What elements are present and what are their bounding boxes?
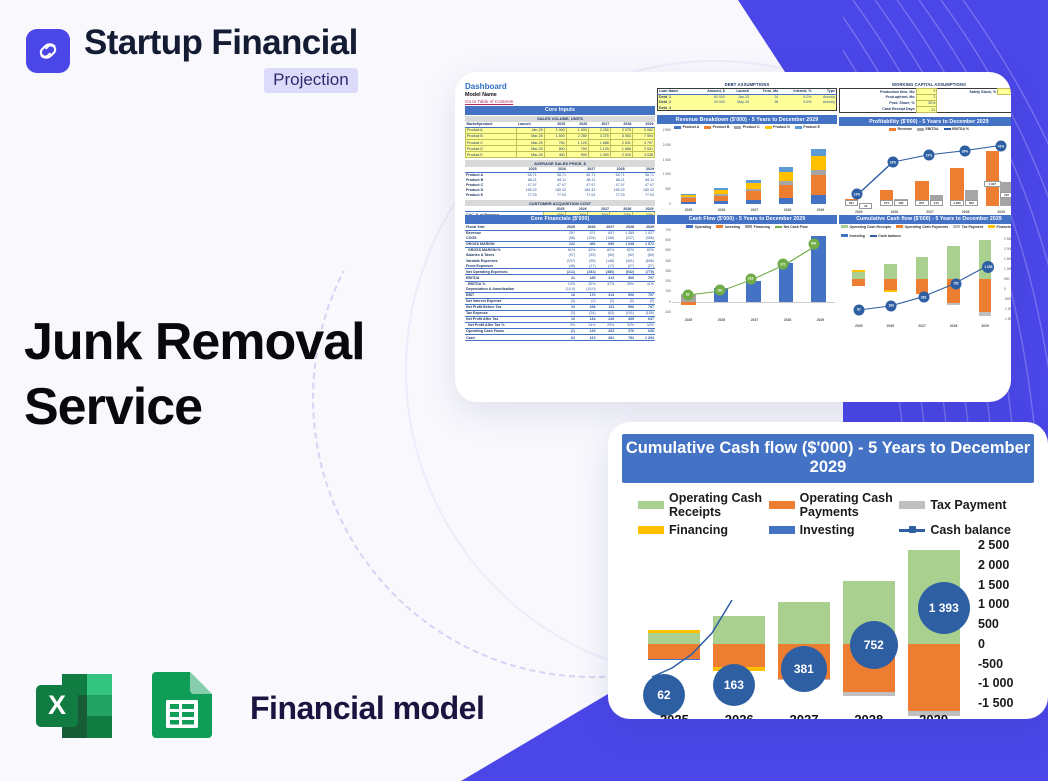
- legend-swatch-orange: [769, 501, 795, 509]
- profitability-title: Profitability ($'000) - 5 Years to Decem…: [839, 117, 1011, 126]
- profitability-x-axis: 2025 2026 2027 2028 2029: [841, 210, 1011, 214]
- dashboard-inputs-column: Dashboard Model Name Go to Table of Cont…: [465, 82, 655, 212]
- cumulative-mini-marker: 752: [951, 278, 962, 289]
- core-financials-block: Core Financials ($'000) Fiscal Year 2025…: [465, 213, 655, 341]
- debt-assumptions-header: DEBT ASSUMPTIONS: [657, 82, 837, 87]
- cash-flow-marker: 640: [808, 238, 819, 249]
- page-title: Junk Removal Service: [24, 310, 365, 440]
- cash-balance-marker-2027: 381: [781, 646, 827, 692]
- revenue-breakdown-title: Revenue Breakdown ($'000) - 5 Years to D…: [657, 115, 837, 124]
- profitability-marker: 37%: [924, 150, 935, 161]
- table-row: Cash621633817521 393: [465, 335, 655, 341]
- cumulative-mini-marker: 163: [886, 300, 897, 311]
- legend-swatch-blue: [769, 526, 795, 534]
- cumulative-cash-flow-card: Cumulative Cash flow ($'000) - 5 Years t…: [608, 422, 1048, 719]
- cumulative-mini-y-axis: -1 500 -1 000 -500 0 500 1 000 1 500 2 0…: [1003, 239, 1011, 319]
- legend-item-financing: Financing: [638, 523, 767, 537]
- dashboard-heading: Dashboard: [465, 82, 655, 91]
- table-row: Debt_3: [658, 105, 837, 111]
- cumulative-cash-flow-x-axis: 2025 2026 2027 2028 2029: [642, 712, 966, 719]
- google-sheets-icon: [144, 660, 220, 757]
- cash-flow-block: Cash Flow ($'000) - 5 Years to December …: [657, 213, 837, 341]
- dashboard-debt-column: DEBT ASSUMPTIONS Loan Name Amount, $ Lau…: [657, 82, 837, 212]
- dashboard-wc-column: WORKING CAPITAL ASSUMPTIONS Production t…: [839, 82, 1011, 212]
- profitability-marker: 10%: [852, 189, 863, 200]
- table-row: Product EMar-254009001 3502 0253 038: [466, 152, 655, 158]
- cash-flow-y-axis: -100 0 100 200 300 400 500 600 700: [657, 230, 672, 312]
- cumulative-cash-flow-y-axis: 2 500 2 000 1 500 1 000 500 0 -500 -1 00…: [972, 545, 1036, 703]
- cash-flow-x-axis: 2025 2026 2027 2028 2029: [672, 318, 837, 322]
- legend-line-marker: [899, 529, 925, 532]
- cumulative-mini-legend: Operating Cash Receipts Operating Cash P…: [839, 225, 1011, 238]
- legend-item-operating-cash-payments: Operating Cash Payments: [769, 491, 898, 519]
- e-swirl-logo-icon: [26, 29, 70, 73]
- profitability-marker: 39%: [960, 146, 971, 157]
- revenue-breakdown-legend: Product A Product B Product C Product D …: [657, 125, 837, 129]
- cash-balance-marker-2025: 62: [643, 674, 685, 716]
- legend-swatch-green: [638, 501, 664, 509]
- core-inputs-band: Core Inputs: [465, 106, 655, 115]
- average-price-table: 2025 2026 2027 2028 2029 Product A58.715…: [465, 167, 655, 198]
- revenue-breakdown-bars: [672, 130, 835, 204]
- cumulative-cash-flow-plot: 2 500 2 000 1 500 1 000 500 0 -500 -1 00…: [616, 545, 1040, 719]
- cumulative-cash-flow-legend: Operating Cash Receipts Operating Cash P…: [616, 483, 1040, 541]
- table-of-contents-link[interactable]: Go to Table of Contents: [465, 99, 655, 104]
- cumulative-mini-marker: 62: [853, 304, 864, 315]
- profitability-legend: Revenue EBITDA EBITDA %: [839, 127, 1011, 131]
- working-capital-header: WORKING CAPITAL ASSUMPTIONS: [839, 82, 1011, 87]
- cash-balance-marker-2028: 752: [850, 621, 898, 669]
- revenue-breakdown-y-axis: 0 500 1 000 1 500 2 000 2 500: [657, 130, 672, 204]
- table-row: Cash Receipt Days 21: [840, 107, 1012, 113]
- core-financials-band: Core Financials ($'000): [465, 215, 655, 224]
- profitability-marker: 32%: [888, 157, 899, 168]
- debt-assumptions-table: Loan Name Amount, $ Launch Term, Mo Inte…: [657, 88, 837, 111]
- cumulative-cash-flow-mini-chart: Operating Cash Receipts Operating Cash P…: [839, 225, 1011, 353]
- brand-title: Startup Financial: [84, 25, 358, 62]
- cash-flow-marker: 101: [715, 285, 726, 296]
- model-name-label: Model Name: [465, 92, 655, 98]
- working-capital-table: Production time, Mo 2 Safety Stock, % 10…: [839, 88, 1011, 113]
- legend-item-tax-payment: Tax Payment: [899, 491, 1028, 519]
- brand-lockup: Startup Financial Projection: [26, 25, 358, 93]
- svg-text:X: X: [48, 690, 66, 720]
- legend-item-operating-cash-receipts: Operating Cash Receipts: [638, 491, 767, 519]
- legend-item-investing: Investing: [769, 523, 898, 537]
- dashboard-screenshot-card: Dashboard Model Name Go to Table of Cont…: [455, 72, 1011, 402]
- filetype-label: Financial model: [250, 690, 484, 727]
- legend-item-cash-balance: Cash balance: [899, 523, 1028, 537]
- cash-flow-marker: 218: [745, 273, 756, 284]
- filetype-row: X Financial model: [28, 660, 484, 757]
- cumulative-mini-marker: 381: [918, 292, 929, 303]
- brand-subtitle: Projection: [264, 68, 358, 93]
- cumulative-cash-flow-title: Cumulative Cash flow ($'000) - 5 Years t…: [622, 434, 1034, 483]
- cash-balance-marker-2029: 1 393: [918, 582, 970, 634]
- cash-flow-marker: 371: [778, 259, 789, 270]
- cash-flow-marker: 62: [682, 289, 693, 300]
- cash-flow-chart: Operating Investing Financing Net Cash F…: [657, 225, 837, 353]
- sales-volume-table: Market/product Launch 2025 2026 2027 202…: [465, 122, 655, 158]
- table-row: Product E77.0377.0377.0377.0377.03: [465, 193, 655, 198]
- dashboard-spreadsheet: Dashboard Model Name Go to Table of Cont…: [461, 78, 1005, 396]
- cumulative-mini-x-axis: 2025 2026 2027 2028 2029: [843, 324, 1001, 328]
- microsoft-excel-icon: X: [28, 660, 120, 757]
- cash-flow-legend: Operating Investing Financing Net Cash F…: [657, 225, 837, 229]
- profitability-marker: 41%: [996, 141, 1007, 152]
- cumulative-cash-flow-mini-block: Cumulative Cash flow ($'000) - 5 Years t…: [839, 213, 1011, 341]
- legend-swatch-yellow: [638, 526, 664, 534]
- legend-swatch-grey: [899, 501, 925, 509]
- cumulative-mini-marker: 1 393: [982, 261, 994, 273]
- cash-balance-marker-2026: 163: [713, 664, 755, 706]
- revenue-breakdown-x-axis: 2025 2026 2027 2028 2029: [672, 208, 837, 212]
- core-financials-table: Fiscal Year 2025 2026 2027 2028 2029 Rev…: [465, 225, 655, 342]
